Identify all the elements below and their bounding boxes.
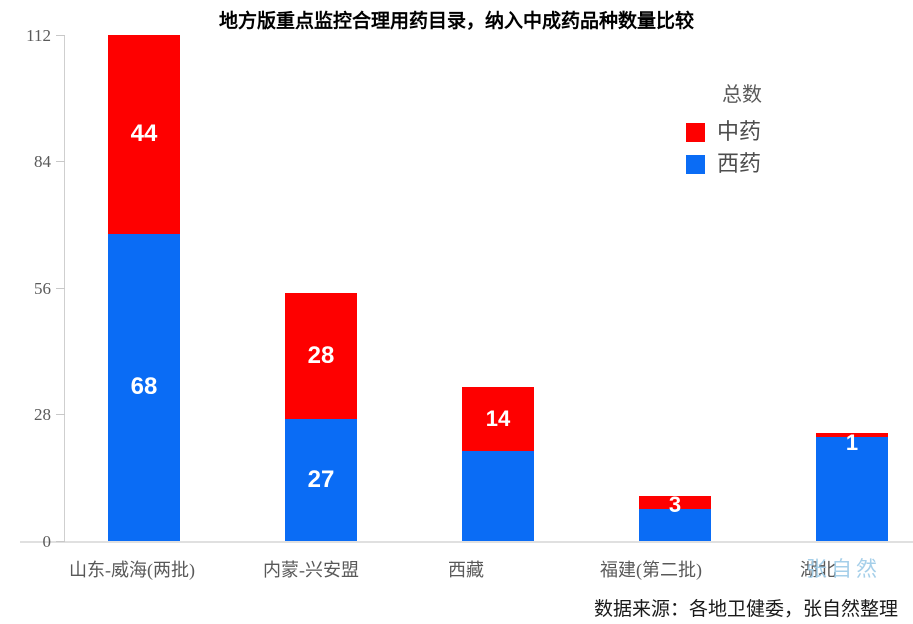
bar-segment-red-2[interactable]: 14: [462, 387, 534, 450]
bar-segment-red-3[interactable]: 3: [639, 496, 711, 510]
bar-segment-blue-2[interactable]: [462, 451, 534, 541]
legend-label-zhongyao: 中药: [717, 121, 761, 143]
source-note: 数据来源：各地卫健委，张自然整理: [0, 594, 898, 621]
x-axis-label-1: 内蒙-兴安盟: [213, 556, 409, 582]
x-axis-label-3: 福建(第二批): [561, 556, 741, 582]
legend-item-zhongyao[interactable]: 中药: [686, 121, 886, 143]
y-tick-label-112: 112: [26, 27, 51, 44]
legend-title: 总数: [686, 78, 886, 107]
bar-value-label-blue-1: 27: [308, 468, 335, 492]
bar-value-label-blue-0: 68: [131, 375, 158, 399]
bar-segment-blue-1[interactable]: 27: [285, 419, 357, 541]
bar-value-label-red-1: 28: [308, 344, 335, 368]
y-tick-label-84: 84: [34, 153, 51, 170]
bar-group-2[interactable]: 14: [462, 35, 534, 541]
bar-group-1[interactable]: 27 28: [285, 35, 357, 541]
bar-segment-red-4[interactable]: 1: [816, 433, 888, 438]
bar-value-label-red-0: 44: [131, 122, 158, 146]
legend-swatch-red: [686, 123, 705, 142]
y-tick-label-28: 28: [34, 406, 51, 423]
bar-value-label-red-2: 14: [486, 408, 510, 430]
page-title: 地方版重点监控合理用药目录，纳入中成药品种数量比较: [0, 6, 913, 33]
bar-segment-blue-0[interactable]: 68: [108, 234, 180, 541]
y-tick-label-0: 0: [43, 533, 52, 550]
legend-item-xiyao[interactable]: 西药: [686, 153, 886, 175]
bar-group-0[interactable]: 68 44: [108, 35, 180, 541]
bar-value-label-red-3: 3: [669, 494, 681, 516]
y-tick-label-56: 56: [34, 280, 51, 297]
bar-value-label-red-4: 1: [846, 432, 858, 454]
legend: 总数 中药 西药: [686, 78, 886, 185]
x-axis-label-0: 山东-威海(两批): [28, 556, 236, 582]
bar-segment-red-1[interactable]: 28: [285, 293, 357, 420]
legend-label-xiyao: 西药: [717, 153, 761, 175]
x-axis-label-2: 西藏: [406, 556, 526, 582]
x-axis-baseline: [20, 541, 913, 543]
bar-segment-red-0[interactable]: 44: [108, 35, 180, 234]
y-tick-mark-0: [56, 541, 65, 542]
x-axis-label-4: 湖北: [758, 556, 878, 582]
legend-swatch-blue: [686, 155, 705, 174]
